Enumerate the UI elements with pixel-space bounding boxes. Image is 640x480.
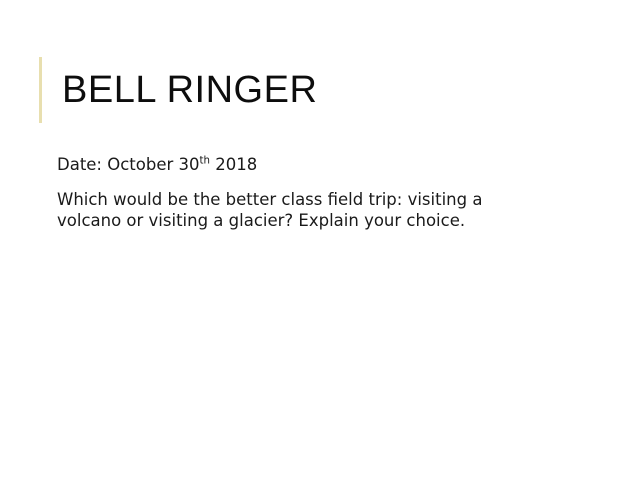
page-title: BELL RINGER xyxy=(42,71,317,109)
date-year: 2018 xyxy=(210,155,257,174)
slide-body-block: Date: October 30th 2018 Which would be t… xyxy=(57,155,509,231)
prompt-text: Which would be the better class field tr… xyxy=(57,190,509,232)
slide-title-block: BELL RINGER xyxy=(39,57,317,123)
date-label: Date: October 30 xyxy=(57,155,200,174)
date-line: Date: October 30th 2018 xyxy=(57,155,509,176)
date-ordinal-suffix: th xyxy=(200,156,210,167)
presentation-slide: BELL RINGER Date: October 30th 2018 Whic… xyxy=(0,0,640,480)
